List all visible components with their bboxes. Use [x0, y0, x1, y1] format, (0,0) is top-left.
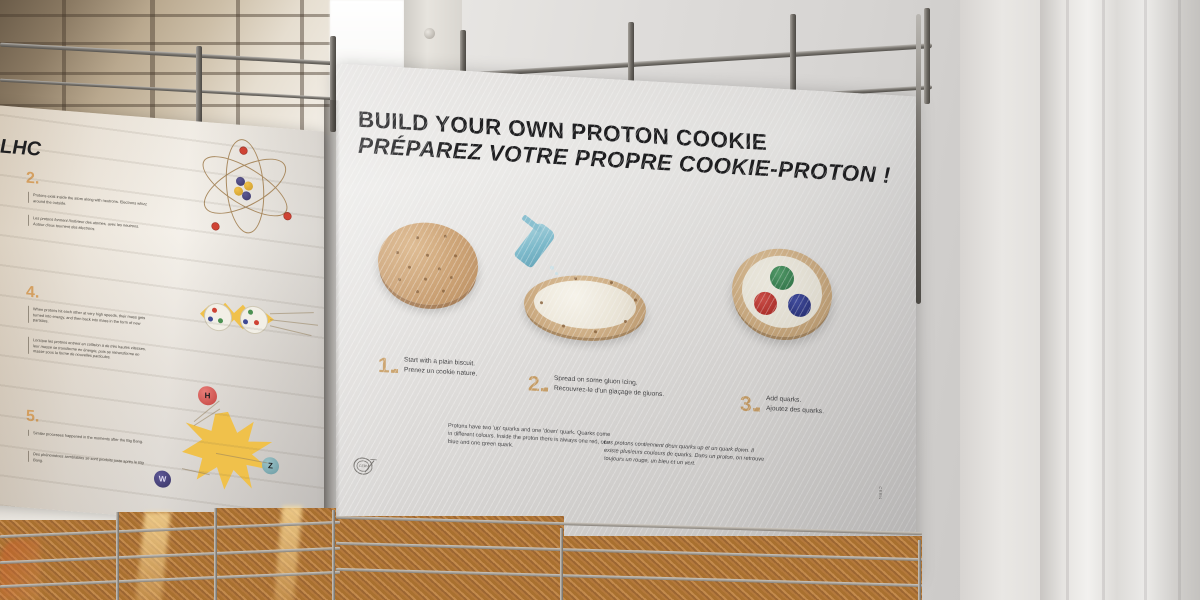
main-panel-shading	[336, 64, 916, 577]
main-display-panel: BUILD YOUR OWN PROTON COOKIE PRÉPAREZ VO…	[336, 64, 916, 577]
screenshot-root: LHC 2. Protons exist inside the atom alo…	[0, 0, 1200, 600]
pillar-screw-icon	[424, 28, 435, 39]
curtain	[1040, 0, 1200, 600]
left-panel-light-stripes	[0, 104, 324, 531]
panel-edge-shadow	[324, 99, 340, 520]
left-display-panel: LHC 2. Protons exist inside the atom alo…	[0, 104, 324, 531]
